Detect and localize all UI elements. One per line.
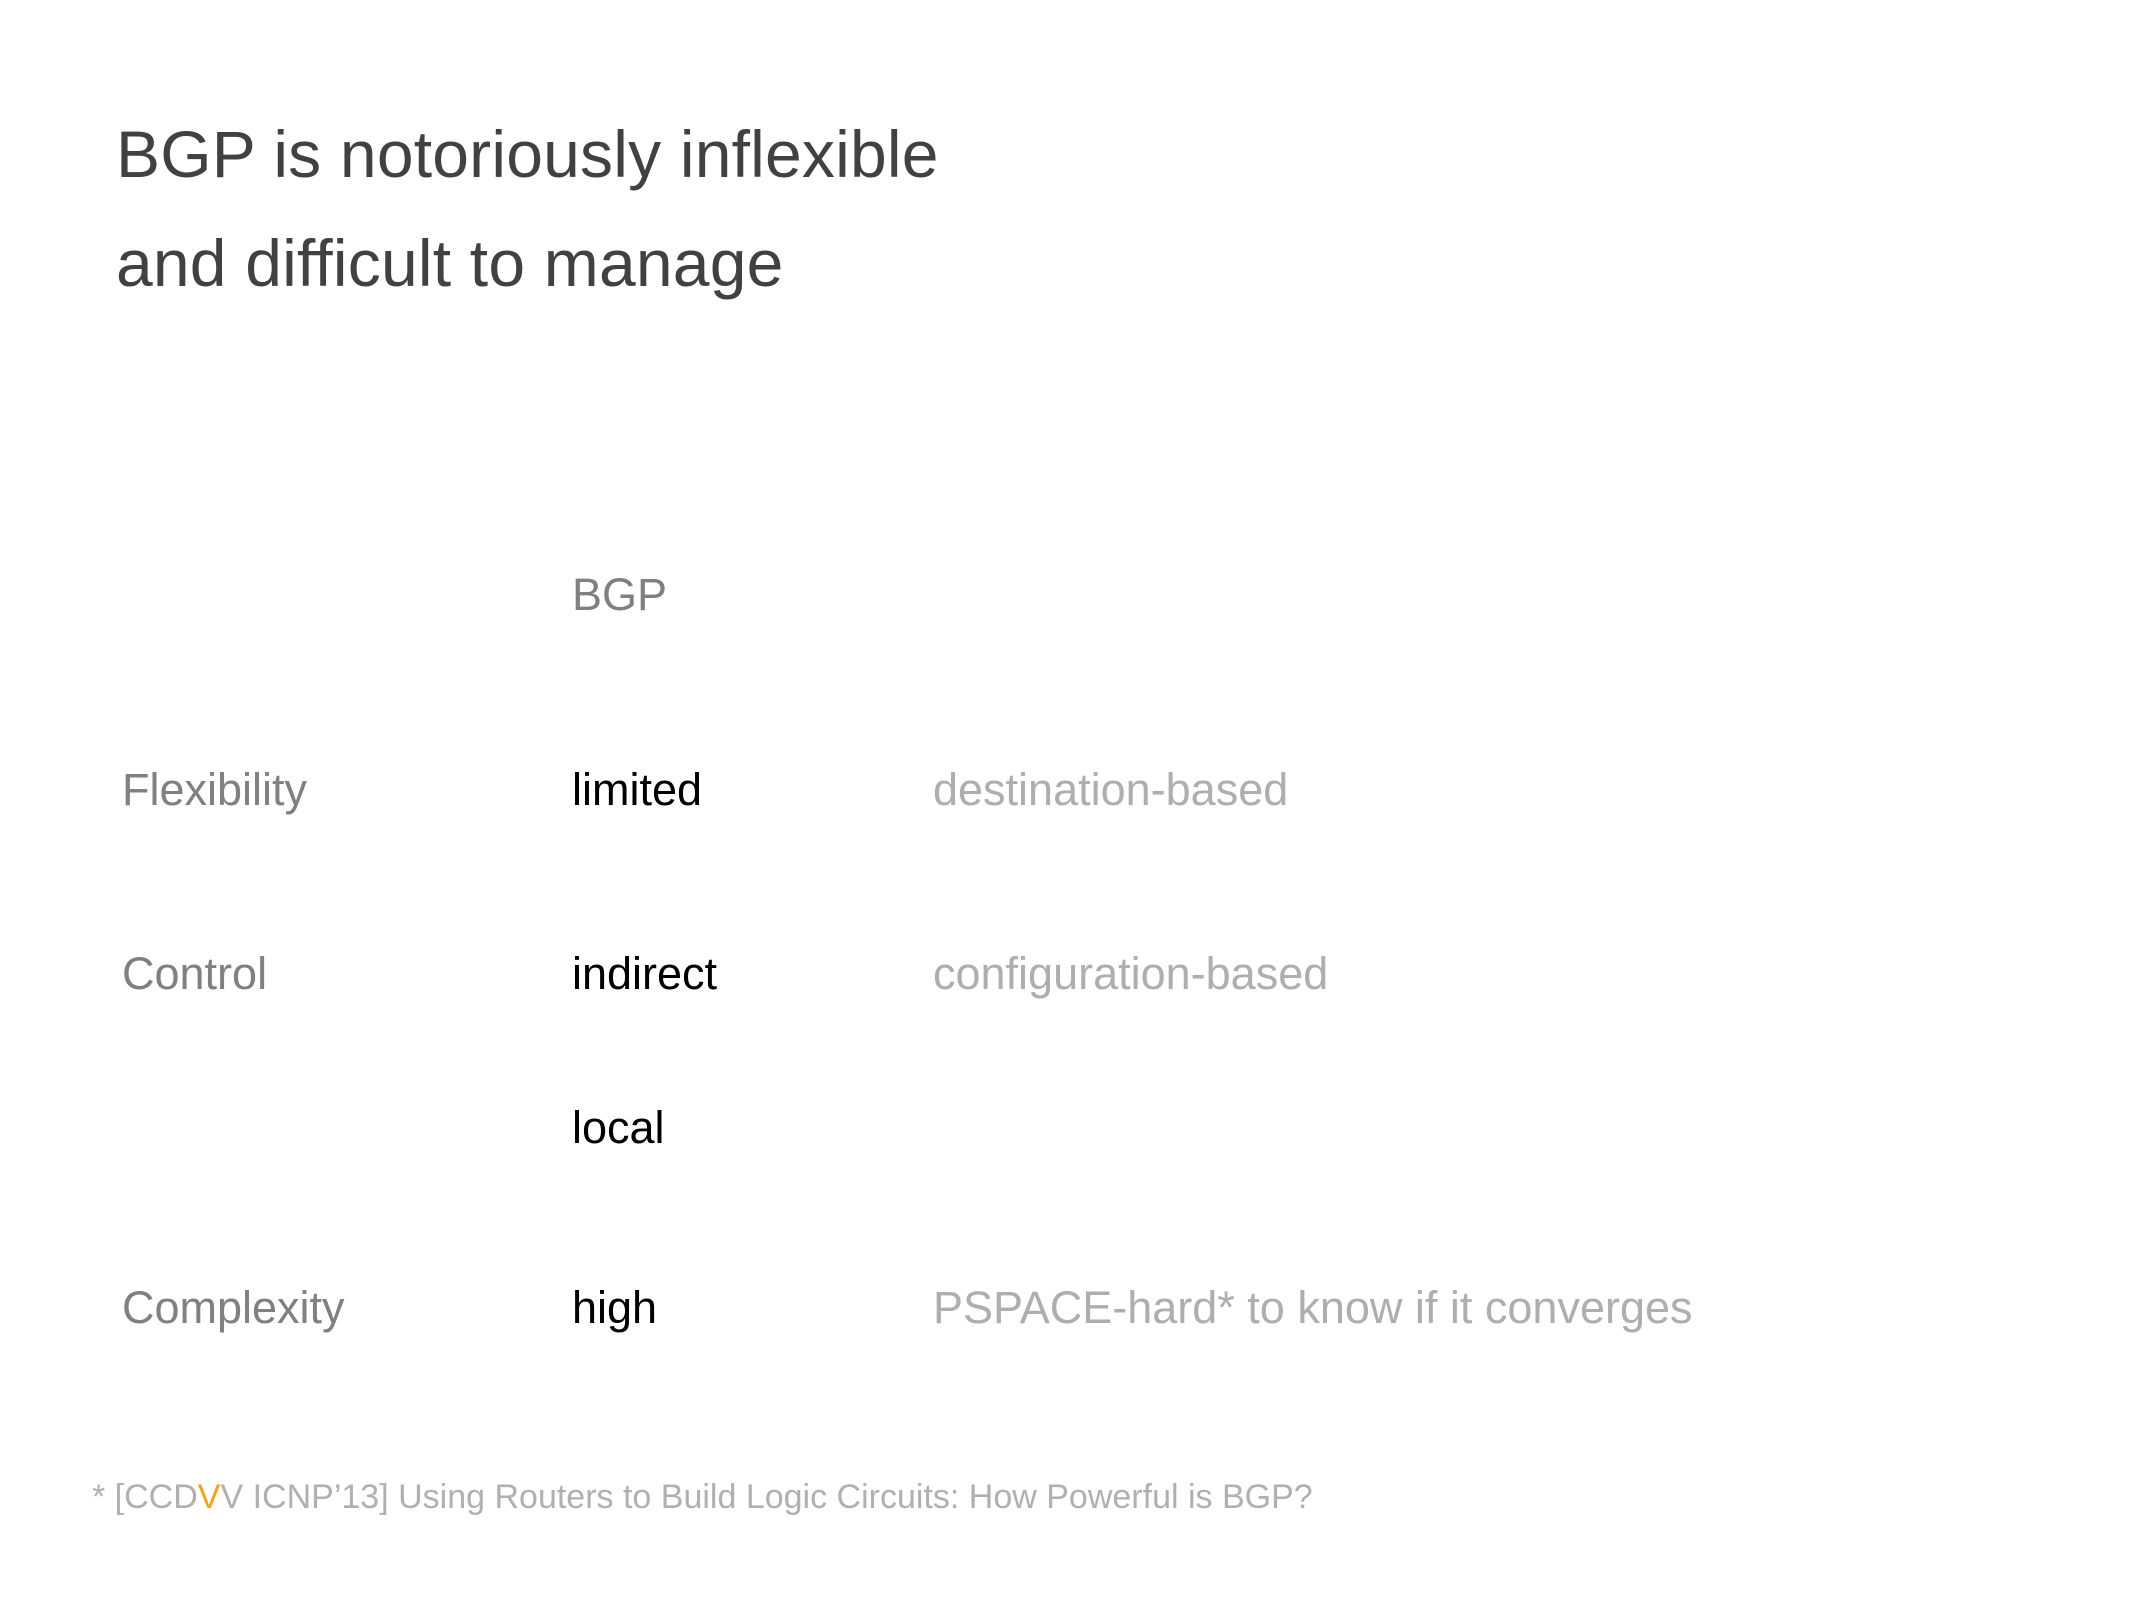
table-row: local <box>0 1098 2134 1158</box>
row-label-control: Control <box>122 944 267 1004</box>
title-line-2: and difficult to manage <box>116 209 1716 318</box>
title-line-1: BGP is notoriously inflexible <box>116 100 1716 209</box>
row-label-flexibility: Flexibility <box>122 760 307 820</box>
table-row: Control indirect configuration-based <box>0 944 2134 1004</box>
row-value-local: local <box>572 1098 665 1158</box>
slide-title: BGP is notoriously inflexible and diffic… <box>116 100 1716 318</box>
footnote-citation: * [CCDVV ICNP’13] Using Routers to Build… <box>92 1474 1313 1520</box>
slide-canvas: BGP is notoriously inflexible and diffic… <box>0 0 2134 1600</box>
table-header-row: BGP <box>0 565 2134 625</box>
row-description-flexibility: destination-based <box>933 760 1288 820</box>
row-value-complexity: high <box>572 1278 657 1338</box>
row-description-complexity: PSPACE-hard* to know if it converges <box>933 1278 1693 1338</box>
table-row: Flexibility limited destination-based <box>0 760 2134 820</box>
row-value-flexibility: limited <box>572 760 702 820</box>
footnote-suffix: V ICNP’13] Using Routers to Build Logic … <box>220 1478 1312 1516</box>
table-header-bgp: BGP <box>572 565 667 625</box>
row-description-control: configuration-based <box>933 944 1328 1004</box>
row-value-control: indirect <box>572 944 717 1004</box>
footnote-highlight-letter: V <box>198 1478 221 1516</box>
table-row: Complexity high PSPACE-hard* to know if … <box>0 1278 2134 1338</box>
row-label-complexity: Complexity <box>122 1278 345 1338</box>
footnote-prefix: * [CCD <box>92 1478 198 1516</box>
